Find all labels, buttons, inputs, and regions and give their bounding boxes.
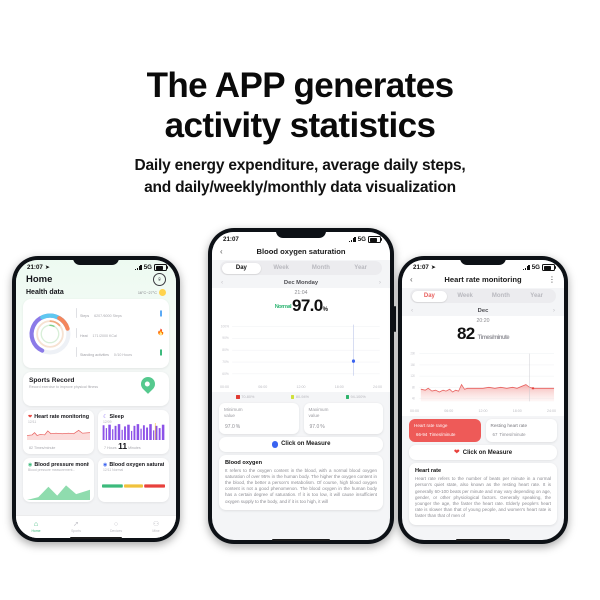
notch [73,256,119,265]
home-title: Home [26,274,52,285]
heart-rate-chart: 200160120 8040 [409,349,557,407]
sun-icon [159,289,166,296]
notch [460,256,506,265]
network-label: 5G [144,264,152,271]
tab-year[interactable]: Year [519,291,555,302]
status-left: 21:07 ➤ [27,264,50,271]
measure-dot-icon [272,441,279,448]
spo2-bar-chart [102,482,165,490]
card-blood-pressure-subtitle: Blood pressure measurement... [28,468,89,472]
hr-range-label: Heart rate range [414,423,476,428]
nav-title: Heart rate monitoring [420,275,546,284]
power-button[interactable] [394,306,396,332]
tab-week[interactable]: Week [261,263,301,274]
stat-standing: Standing activities 0/10 Hours ❚ [76,343,165,361]
footprint-icon: ❚ [157,310,165,317]
heart-rate-range-card: Heart rate range 66-94Times/minute [409,419,481,442]
period-tabs: Day Week Month Year [410,289,556,303]
svg-text:100%: 100% [221,324,229,328]
bp-mini-chart [27,478,90,500]
page-subtitle: Daily energy expenditure, average daily … [0,155,600,199]
activity-rings [27,311,73,357]
chevron-left-icon[interactable]: ‹ [221,279,229,286]
maximum-label-2: value [309,413,379,419]
measure-button[interactable]: Click on Measure [219,437,383,452]
weather-temp: 16°C~27°C [138,291,157,295]
legend-swatch-yellow [291,395,294,398]
measure-button-label: Click on Measure [281,441,330,447]
date-navigation: ‹ Dec Monday › [212,279,390,286]
minimum-unit: % [236,424,240,430]
legend-swatch-red [236,395,239,398]
xtick-1: 06:00 [258,385,267,389]
card-heart-rate-value: 82Times/minute [28,441,55,451]
spo2-x-axis: 00:00 06:00 12:00 18:00 24:00 [212,385,390,389]
subtitle-line-2: and daily/weekly/monthly data visualizat… [0,177,600,199]
battery-icon [542,264,555,271]
reading-panel: 20:20 82Times/minute [402,316,564,416]
location-arrow-icon: ➤ [45,264,50,271]
period-tabs: Day Week Month Year [220,261,382,275]
card-sleep-value: 7Hours11Minutes [103,441,141,451]
phone-left-screen: 21:07 ➤ 5G Home ⌾ Health data [16,260,176,538]
status-time: 21:07 [223,236,239,243]
blood-oxygen-description: Blood oxygen It refers to the oxygen con… [219,455,383,510]
steps-label: Steps [80,314,89,318]
devices-icon: ○ [96,521,136,529]
heat-value: 171/2000 KCal [92,330,117,339]
card-heart-rate-title: Heart rate monitoring [34,414,89,420]
promo-page: The APP generates activity statistics Da… [0,0,600,600]
status-right: 5G [135,264,167,271]
health-data-title: Health data [26,289,64,296]
nav-bar: ‹ Blood oxygen saturation [212,244,390,260]
subtitle-line-1: Daily energy expenditure, average daily … [0,155,600,177]
steps-value: 6207/6000 Steps [94,310,122,319]
phone-left-home: 21:07 ➤ 5G Home ⌾ Health data [12,256,180,542]
description-body: Heart rate refers to the number of beats… [415,476,551,519]
standing-label: Standing activities [80,353,109,357]
tab-month[interactable]: Month [483,291,519,302]
heat-label: Heat [80,334,88,338]
minimum-value: 97.0 [225,424,235,430]
svg-text:120: 120 [410,374,415,378]
bp-icon: ◉ [28,462,32,468]
measure-button[interactable]: ❤ Click on Measure [409,445,557,460]
hr-x-axis: 00:00 06:00 12:00 18:00 24:00 [402,409,564,413]
status-time: 21:07 [27,264,43,271]
xtick-3: 18:00 [335,385,344,389]
location-arrow-icon: ➤ [431,264,436,271]
card-blood-pressure[interactable]: ◉ Blood pressure monitoring Blood pressu… [23,458,94,502]
hr-summary-cards: Heart rate range 66-94Times/minute Resti… [409,419,557,442]
standing-icon: ❚ [157,349,165,356]
stat-heat: Heat 171/2000 KCal 🔥 [76,324,165,342]
heart-icon: ❤ [454,449,460,456]
nav-bar: ‹ Heart rate monitoring ⋮ [402,272,564,288]
heart-rate-mini-chart [27,423,90,440]
card-heart-rate[interactable]: ❤ Heart rate monitoring 12/11 82Times/mi… [23,410,94,454]
xtick-1: 06:00 [444,409,453,413]
nav-title: Blood oxygen saturation [230,247,372,256]
stats-column: Steps 6207/6000 Steps ❚ Heat 171/2000 KC… [73,304,165,363]
card-sleep-unit2: Minutes [128,446,141,450]
phone-right-screen: 21:07 ➤ 5G ‹ Heart rate monitoring ⋮ Day… [402,260,564,540]
health-data-header: Health data 16°C~27°C [16,289,176,299]
xtick-2: 12:00 [479,409,488,413]
current-date: Dec Monday [229,280,373,286]
signal-bars-icon [135,265,142,270]
tab-sports[interactable]: ➚ Sports [56,521,96,534]
xtick-2: 12:00 [297,385,306,389]
xtick-4: 24:00 [373,385,382,389]
legend-item-high: 94-100% [346,395,366,399]
chevron-right-icon[interactable]: › [373,279,381,286]
spo2-chart: 100%90%80% 70%60% [219,321,383,383]
xtick-0: 00:00 [410,409,419,413]
signal-bars-icon [523,265,530,270]
card-sleep-unit: Hours [107,446,117,450]
maximum-card: Maximum value 97.0% [304,403,384,434]
phone-center-screen: 21:07 5G ‹ Blood oxygen saturation Day W… [212,232,390,540]
card-blood-oxygen-title: Blood oxygen saturation [109,462,164,468]
tab-mine-label: Mine [136,529,176,533]
tab-mine[interactable]: ⚇ Mine [136,521,176,534]
svg-text:70%: 70% [222,360,229,364]
svg-text:160: 160 [410,363,415,367]
maximum-value: 97.0 [310,424,320,430]
battery-icon [154,264,167,271]
svg-text:200: 200 [410,351,415,355]
description-body: It refers to the oxygen content in the b… [225,468,377,505]
heat-unit: /2000 KCal [99,334,117,338]
sports-icon: ➚ [56,521,96,529]
maximum-unit: % [320,424,324,430]
xtick-3: 18:00 [513,409,522,413]
legend-swatch-green [346,395,349,398]
headline-line-1: The APP generates [0,66,600,106]
svg-text:40: 40 [412,396,415,400]
spo2-icon: ◉ [103,462,107,468]
reading-panel: 21:04 Normal97.0% [212,288,390,392]
svg-text:90%: 90% [222,336,229,340]
sports-record-card[interactable]: Sports Record Record exercise to improve… [23,372,169,406]
card-sleep[interactable]: ☾ Sleep 12/09 [98,410,169,454]
resting-label: Resting heart rate [491,423,553,428]
status-time: 21:07 [413,264,429,271]
current-date: Dec [419,308,547,314]
sleep-mini-chart [102,423,165,440]
headline-line-2: activity statistics [0,106,600,146]
spo2-reading: 21:04 Normal97.0% [212,288,390,321]
standing-unit: /10 Hours [116,353,132,357]
card-blood-oxygen[interactable]: ◉ Blood oxygen saturation 12/11 Normal [98,458,169,502]
hr-range-value: 66-94 [416,432,427,437]
standing-value: 0/10 Hours [113,349,132,358]
minimum-label-2: value [224,413,294,419]
phone-center-blood-oxygen: 21:07 5G ‹ Blood oxygen saturation Day W… [208,228,394,544]
spo2-value: 97.0 [292,296,323,315]
steps-unit: /6000 Steps [103,314,122,318]
svg-text:80: 80 [412,385,415,389]
weather-widget: 16°C~27°C [138,289,166,296]
svg-text:60%: 60% [222,372,229,376]
home-background: 21:07 ➤ 5G Home ⌾ Health data [16,260,176,538]
xtick-0: 00:00 [220,385,229,389]
tab-week[interactable]: Week [447,291,483,302]
status-badge: Normal [275,304,291,310]
date-navigation: ‹ Dec › [402,307,564,314]
activity-summary-card[interactable]: Steps 6207/6000 Steps ❚ Heat 171/2000 KC… [23,299,169,368]
home-header: Home ⌾ [16,272,176,289]
chevron-left-icon[interactable]: ‹ [410,275,420,284]
legend-item-low: 70-80% [236,395,254,399]
stat-steps: Steps 6207/6000 Steps ❚ [76,304,165,322]
card-blood-oxygen-date: 12/11 Normal [103,468,164,472]
tab-devices-label: Devices [96,529,136,533]
tab-home[interactable]: ⌂ Home [16,521,56,534]
home-indicator [70,537,122,540]
minimum-card: Minimum value 97.0% [219,403,299,434]
heart-rate-description: Heart rate Heart rate refers to the numb… [409,463,557,524]
signal-bars-icon [349,237,356,242]
resting-value: 67 [493,432,498,437]
page-title: The APP generates activity statistics [0,66,600,146]
xtick-4: 24:00 [547,409,556,413]
tab-month[interactable]: Month [301,263,341,274]
svg-text:80%: 80% [222,348,229,352]
more-vertical-icon[interactable]: ⋮ [546,278,556,282]
legend-item-mid: 80-94% [291,395,309,399]
hr-reading: 20:20 82Times/minute [402,316,564,349]
home-icon: ⌂ [16,521,56,529]
description-title: Blood oxygen [225,460,377,466]
hr-value: 82 [457,324,475,343]
tab-year[interactable]: Year [341,263,381,274]
chart-legend: 70-80% 80-94% 94-100% [212,392,390,401]
home-indicator [456,539,510,542]
heart-icon: ❤ [28,414,32,420]
phone-right-heart-rate: 21:07 ➤ 5G ‹ Heart rate monitoring ⋮ Day… [398,256,568,544]
minmax-cards: Minimum value 97.0% Maximum value 97.0% [219,403,383,434]
card-heart-rate-unit: Times/minute [34,446,55,450]
card-blood-pressure-title: Blood pressure monitoring [34,462,89,468]
tab-home-label: Home [16,529,56,533]
notch [276,228,326,238]
network-label: 5G [358,236,366,243]
network-label: 5G [532,264,540,271]
measure-button-label: Click on Measure [463,450,512,456]
chevron-left-icon[interactable]: ‹ [411,307,419,314]
tab-day[interactable]: Day [412,291,448,302]
moon-icon: ☾ [103,414,107,420]
tab-devices[interactable]: ○ Devices [96,521,136,534]
description-title: Heart rate [415,468,551,474]
hr-range-unit: Times/minute [429,432,455,437]
home-indicator [272,539,330,542]
scan-icon[interactable]: ⌾ [153,273,166,286]
tab-day[interactable]: Day [222,263,262,274]
person-icon: ⚇ [136,521,176,529]
tab-sports-label: Sports [56,529,96,533]
chevron-left-icon[interactable]: ‹ [220,247,230,256]
hr-unit: Times/minute [478,335,509,341]
bottom-tab-bar: ⌂ Home ➚ Sports ○ Devices ⚇ Mine [16,515,176,538]
resting-unit: Times/minute [499,432,525,437]
flame-icon: 🔥 [157,329,165,336]
card-sleep-title: Sleep [109,414,123,420]
chevron-right-icon[interactable]: › [547,307,555,314]
resting-heart-rate-card: Resting heart rate 67Times/minute [486,419,558,442]
health-cards-grid: ❤ Heart rate monitoring 12/11 82Times/mi… [23,410,169,502]
spo2-unit: % [323,307,328,313]
battery-icon [368,236,381,243]
